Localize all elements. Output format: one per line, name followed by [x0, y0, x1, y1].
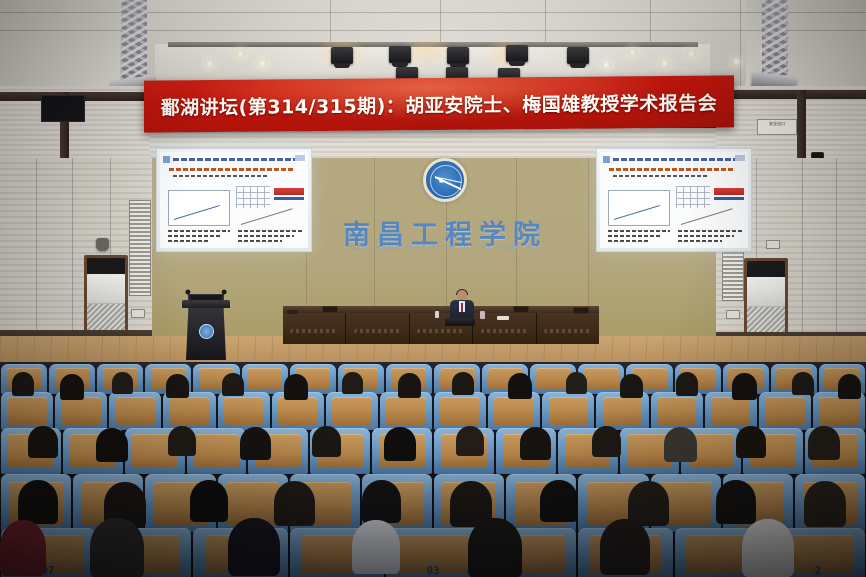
audience-member: [808, 426, 840, 460]
wall-outlet[interactable]: [726, 310, 740, 319]
audience-member: [664, 427, 697, 462]
slide-data-table: [236, 186, 270, 208]
slide-title-text: [613, 158, 738, 161]
audience-member: [352, 520, 400, 574]
stage-spotlight: [331, 47, 353, 64]
audience-member: [566, 372, 587, 394]
slide-subtitle-text: [169, 168, 294, 171]
audience-member: [312, 426, 341, 457]
ac-display-panel: [87, 258, 125, 274]
audience-member: [96, 428, 128, 462]
exit-sign: 安全出口: [757, 119, 797, 135]
audience-member: [222, 373, 244, 396]
ac-upper-panel: [87, 274, 125, 304]
ceiling-downlight: [258, 60, 267, 67]
desk-document: [497, 316, 509, 320]
audience-member: [112, 372, 133, 394]
ceiling-downlight: [236, 50, 245, 57]
table-microphone: [513, 306, 529, 313]
school-name-en: NANCHANG INSTITUTE OF TECHNOLOGY: [340, 245, 550, 252]
ceiling: [0, 0, 866, 86]
wall-air-vent: [129, 200, 151, 296]
wall-outlet[interactable]: [131, 309, 145, 318]
water-bottle: [435, 311, 439, 318]
stage-spotlight: [389, 46, 411, 63]
slide-data-table: [676, 186, 710, 208]
slide-logo-icon: [735, 155, 745, 161]
slide-line-chart: [608, 190, 670, 226]
audience-member: [676, 372, 698, 396]
speaker-laptop: [445, 318, 475, 326]
slide-note-text: [173, 175, 268, 177]
right-projection-screen: [596, 148, 752, 252]
stage-spotlight: [506, 45, 528, 62]
table-front-panels: [283, 313, 599, 344]
audience-member: [284, 374, 308, 400]
audience-member: [792, 372, 814, 395]
slide-logo-icon: [295, 155, 305, 161]
table-microphone: [573, 307, 589, 314]
audience-member: [240, 427, 271, 460]
slide-scatter-chart: [676, 210, 744, 228]
audience-member: [838, 374, 861, 399]
table-nameplate: [287, 310, 298, 314]
stage-spotlight: [447, 47, 469, 64]
audience-member: [166, 374, 189, 398]
wall-trim-vertical: [797, 90, 806, 164]
audience-member: [468, 518, 522, 577]
audience-member: [742, 519, 794, 577]
audience-member: [508, 373, 532, 399]
event-banner: 鄱湖讲坛(第314/315期)：胡亚安院士、梅国雄教授学术报告会: [144, 75, 734, 132]
audience-member: [60, 374, 84, 400]
ceiling-downlight: [628, 49, 637, 56]
ac-upper-panel: [747, 277, 785, 307]
wall-trim: [714, 90, 866, 99]
wall-plaque: [41, 95, 85, 122]
audience-member: [736, 426, 766, 458]
lighting-truss-tower: [762, 0, 788, 76]
audience-member: [28, 426, 58, 458]
ceiling-downlight: [660, 60, 669, 67]
audience-member: [168, 426, 196, 456]
lighting-truss-tower: [121, 0, 147, 80]
ac-display-panel: [747, 261, 785, 277]
audience-member: [384, 427, 416, 461]
slide-title-text: [173, 158, 298, 161]
slide-bullet-icon: [163, 156, 170, 163]
slide-content: [160, 152, 308, 248]
audience-member: [732, 373, 757, 400]
speaker-tie: [461, 303, 463, 312]
slide-highlight-bar: [714, 188, 744, 195]
table-microphone: [322, 306, 338, 313]
water-bottle: [480, 311, 485, 319]
ceiling-downlight: [602, 61, 611, 68]
slide-note-text: [613, 175, 708, 177]
audience-member: [600, 519, 650, 575]
school-emblem-icon: [423, 158, 467, 202]
audience-member: [620, 374, 643, 398]
banner-text: 鄱湖讲坛(第314/315期)：胡亚安院士、梅国雄教授学术报告会: [161, 88, 718, 120]
slide-subtitle-text: [609, 168, 734, 171]
auditorium-scene: 安全出口 鄱湖讲坛(第314/315期)：胡亚安院士、梅国雄教授学术报告会 南昌…: [0, 0, 866, 577]
audience-member: [342, 372, 363, 394]
podium-desktop: [182, 300, 230, 308]
ceiling-downlight: [687, 50, 696, 57]
audience-seating: 07 05 03 01 2: [0, 362, 866, 577]
slide-highlight-bar: [274, 188, 304, 195]
slide-bullet-icon: [603, 156, 610, 163]
audience-foreground: [0, 512, 866, 577]
audience-member: [456, 426, 484, 456]
left-projection-screen: [156, 148, 312, 252]
audience-member: [0, 520, 46, 576]
emblem-wave-graphic: [435, 175, 461, 191]
speaker-podium: [186, 300, 226, 360]
audience-member: [398, 373, 421, 398]
audience-member: [592, 426, 621, 457]
slide-scatter-chart: [236, 210, 304, 228]
slide-legend-bar: [714, 197, 744, 200]
wall-switch-plate[interactable]: [766, 240, 780, 249]
audience-member: [228, 518, 280, 576]
audience-member: [90, 518, 144, 577]
audience-member: [520, 427, 551, 460]
slide-line-chart: [168, 190, 230, 226]
ceiling-downlight: [205, 60, 214, 67]
audience-member: [452, 372, 474, 395]
wall-mounted-speaker: [96, 238, 109, 251]
stage-spotlight: [567, 47, 589, 64]
podium-school-emblem-icon: [199, 324, 214, 339]
audience-member: [12, 372, 34, 396]
ceiling-downlight: [732, 58, 741, 65]
slide-legend-bar: [274, 197, 304, 200]
seated-speaker: [450, 290, 474, 320]
slide-content: [600, 152, 748, 248]
